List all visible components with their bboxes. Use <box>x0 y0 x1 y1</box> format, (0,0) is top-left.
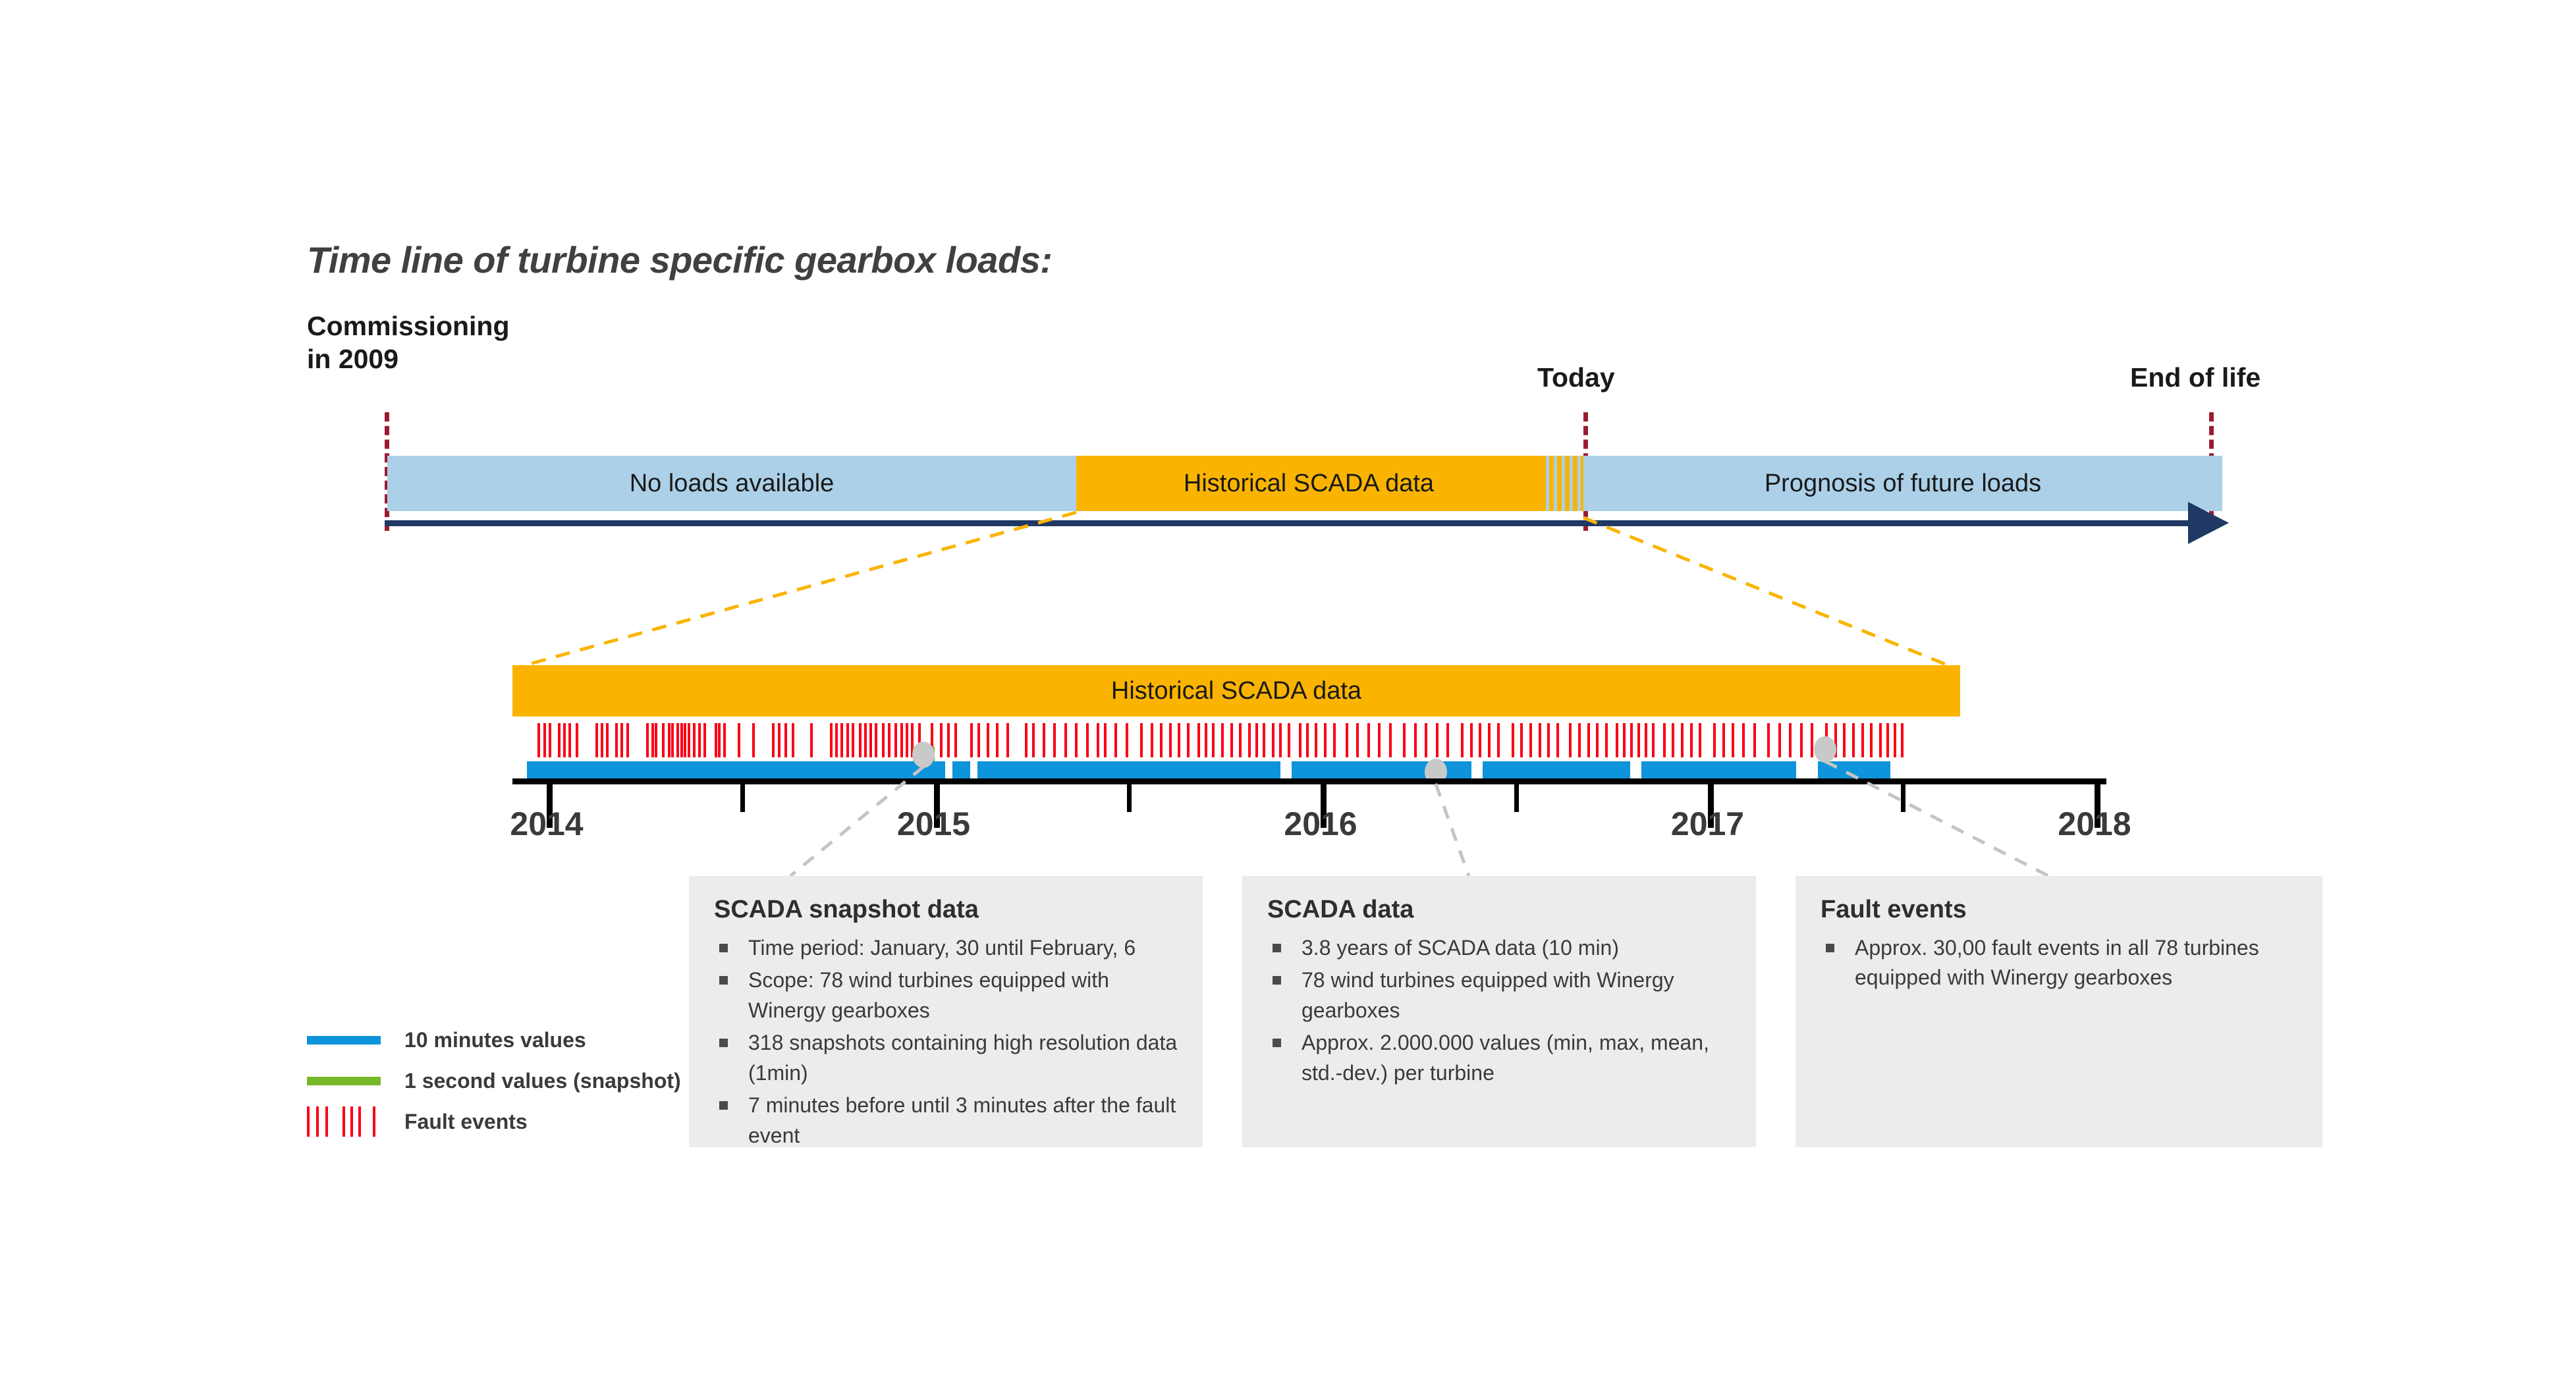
fault-event-tick <box>996 723 999 757</box>
legend-item-one-second: 1 second values (snapshot) <box>307 1060 681 1101</box>
fault-event-tick <box>543 723 546 757</box>
fault-event-tick <box>906 723 908 757</box>
fault-event-tick <box>1672 723 1674 757</box>
fault-event-tick <box>693 723 696 757</box>
fault-event-tick <box>1616 723 1618 757</box>
fault-event-tick <box>1652 723 1655 757</box>
fault-event-tick <box>1789 723 1792 757</box>
detail-axis-rule <box>512 778 2106 784</box>
page-title: Time line of turbine specific gearbox lo… <box>307 238 1052 281</box>
main-axis-arrow-icon <box>2188 502 2229 544</box>
legend-tick-mark <box>343 1106 345 1137</box>
ten-minute-value-bar <box>1641 761 1796 778</box>
axis-minor-tick <box>1514 784 1519 812</box>
info-box-bullet-list: Approx. 30,00 fault events in all 78 tur… <box>1821 933 2300 993</box>
fault-event-tick <box>1596 723 1599 757</box>
fault-event-tick <box>1197 723 1200 757</box>
timeline-segment-historical-scada: Historical SCADA data <box>1076 456 1541 511</box>
info-bullet: Approx. 30,00 fault events in all 78 tur… <box>1821 933 2300 993</box>
fault-event-tick <box>1778 723 1781 757</box>
fault-event-tick <box>987 723 989 757</box>
fault-event-tick <box>601 723 603 757</box>
fault-event-tick <box>1461 723 1464 757</box>
fault-event-tick <box>1470 723 1473 757</box>
fault-event-tick <box>954 723 957 757</box>
fault-event-tick <box>1623 723 1626 757</box>
fault-event-tick <box>703 723 706 757</box>
fault-event-tick <box>752 723 755 757</box>
info-box-scada-data: SCADA data 3.8 years of SCADA data (10 m… <box>1242 876 1756 1147</box>
fault-event-tick <box>1699 723 1701 757</box>
legend-label: Fault events <box>404 1110 528 1134</box>
fault-event-tick <box>900 723 903 757</box>
fault-event-tick <box>1630 723 1633 757</box>
fault-event-tick <box>738 723 740 757</box>
axis-year-label: 2017 <box>1671 805 1744 843</box>
fault-event-tick <box>668 723 671 757</box>
fault-event-tick <box>1811 723 1813 757</box>
fault-event-tick <box>792 723 794 757</box>
fault-event-tick <box>558 723 561 757</box>
info-bullet: 3.8 years of SCADA data (10 min) <box>1267 933 1734 963</box>
fault-event-tick <box>1272 723 1274 757</box>
fault-event-tick <box>1126 723 1128 757</box>
fault-event-tick <box>864 723 867 757</box>
fault-event-tick <box>1587 723 1590 757</box>
fault-event-tick <box>1389 723 1392 757</box>
callout-leader-line-scada <box>1436 784 1469 876</box>
fault-event-tick <box>1645 723 1647 757</box>
fault-event-tick <box>1378 723 1381 757</box>
fault-event-tick <box>1605 723 1608 757</box>
chart-legend: 10 minutes values 1 second values (snaps… <box>307 1019 681 1142</box>
fault-event-tick <box>1488 723 1491 757</box>
fault-event-tick <box>1097 723 1099 757</box>
fault-event-tick <box>830 723 833 757</box>
fault-event-tick <box>1446 723 1449 757</box>
legend-tick-mark <box>373 1106 375 1137</box>
axis-year-label: 2015 <box>897 805 970 843</box>
fault-event-tick <box>1901 723 1904 757</box>
fault-event-tick <box>784 723 787 757</box>
timeline-segment-prognosis: Prognosis of future loads <box>1583 456 2222 511</box>
legend-item-ten-minutes: 10 minutes values <box>307 1019 681 1060</box>
fault-event-tick <box>651 723 654 757</box>
axis-minor-tick <box>1127 784 1132 812</box>
fault-event-tick <box>888 723 891 757</box>
fault-event-tick <box>846 723 849 757</box>
fault-event-tick <box>1547 723 1550 757</box>
fault-event-tick <box>947 723 950 757</box>
fault-event-tick <box>671 723 674 757</box>
fault-event-tick <box>723 723 726 757</box>
fault-event-tick <box>835 723 838 757</box>
fault-event-tick <box>1403 723 1406 757</box>
fault-event-tick <box>1852 723 1855 757</box>
ten-minute-value-bar <box>1818 761 1890 778</box>
fault-event-tick <box>1075 723 1078 757</box>
legend-label: 10 minutes values <box>404 1028 586 1052</box>
fault-event-tick <box>576 723 578 757</box>
fault-event-tick <box>1279 723 1282 757</box>
info-box-scada-snapshot-data: SCADA snapshot data Time period: January… <box>689 876 1203 1147</box>
legend-tick-mark <box>316 1106 319 1137</box>
axis-year-label: 2018 <box>2058 805 2131 843</box>
fault-event-tick <box>715 723 717 757</box>
fault-event-tick <box>1255 723 1258 757</box>
fault-event-tick <box>537 723 540 757</box>
fault-event-tick <box>1529 723 1532 757</box>
fault-event-tick <box>655 723 657 757</box>
fault-event-tick <box>676 723 679 757</box>
fault-event-tick <box>1140 723 1143 757</box>
fault-event-tick <box>646 723 649 757</box>
axis-minor-tick <box>1901 784 1905 812</box>
fault-event-tick <box>1306 723 1309 757</box>
fault-event-tick <box>1800 723 1803 757</box>
fault-event-tick <box>1064 723 1067 757</box>
fault-event-tick <box>698 723 701 757</box>
fault-event-tick <box>1221 723 1224 757</box>
fault-event-tick <box>1288 723 1290 757</box>
fault-event-tick <box>1742 723 1745 757</box>
fault-event-tick <box>1843 723 1846 757</box>
fault-event-tick <box>1578 723 1581 757</box>
fault-event-tick <box>977 723 980 757</box>
fault-event-tick <box>1861 723 1864 757</box>
fault-event-tick <box>1025 723 1028 757</box>
legend-tick-mark <box>358 1106 361 1137</box>
fault-event-tick <box>1212 723 1215 757</box>
fault-event-tick <box>626 723 629 757</box>
info-bullet: 7 minutes before until 3 minutes after t… <box>714 1091 1180 1151</box>
fault-event-tick <box>1324 723 1327 757</box>
fault-event-tick <box>1299 723 1302 757</box>
fault-event-tick <box>1681 723 1684 757</box>
fault-event-tick <box>1713 723 1716 757</box>
fault-event-tick <box>1436 723 1439 757</box>
fault-event-tick <box>1722 723 1725 757</box>
axis-minor-tick <box>740 784 745 812</box>
fault-event-tick <box>1169 723 1172 757</box>
legend-tick-mark <box>350 1106 353 1137</box>
fault-event-tick <box>1239 723 1242 757</box>
legend-swatch-line-icon <box>307 1077 381 1085</box>
info-bullet: Approx. 2.000.000 values (min, max, mean… <box>1267 1028 1734 1088</box>
fault-event-tick <box>1663 723 1666 757</box>
detail-historical-scada-bar: Historical SCADA data <box>512 665 1960 717</box>
legend-tick-mark <box>307 1106 310 1137</box>
fault-event-tick <box>1637 723 1640 757</box>
fault-event-tick <box>1248 723 1251 757</box>
fault-event-tick <box>859 723 862 757</box>
fault-event-tick <box>1114 723 1117 757</box>
fault-event-tick <box>680 723 683 757</box>
fault-event-tick <box>1894 723 1896 757</box>
fault-event-tick <box>1732 723 1734 757</box>
fault-event-ticks <box>527 723 1969 757</box>
fault-event-tick <box>840 723 843 757</box>
fault-event-tick <box>615 723 618 757</box>
fault-event-tick <box>970 723 973 757</box>
fault-event-tick <box>1333 723 1336 757</box>
ten-minute-value-bar <box>527 761 945 778</box>
main-axis-line <box>385 520 2222 526</box>
info-box-bullet-list: Time period: January, 30 until February,… <box>714 933 1180 1151</box>
fault-event-tick <box>595 723 598 757</box>
callout-anchor-faults <box>1814 736 1836 763</box>
ten-minute-value-bars <box>527 761 1969 778</box>
fault-event-tick <box>1767 723 1770 757</box>
fault-event-tick <box>1753 723 1756 757</box>
fault-event-tick <box>1479 723 1481 757</box>
info-box-bullet-list: 3.8 years of SCADA data (10 min) 78 wind… <box>1267 933 1734 1088</box>
marker-label-today: Today <box>1537 361 1615 394</box>
info-bullet: 318 snapshots containing high resolution… <box>714 1028 1180 1088</box>
fault-event-tick <box>1151 723 1153 757</box>
info-bullet: 78 wind turbines equipped with Winergy g… <box>1267 965 1734 1025</box>
fault-event-tick <box>1160 723 1163 757</box>
fault-event-tick <box>1104 723 1107 757</box>
fault-event-tick <box>1425 723 1427 757</box>
fault-event-tick <box>1006 723 1009 757</box>
ten-minute-value-bar <box>1483 761 1630 778</box>
fault-event-tick <box>1569 723 1572 757</box>
fault-event-tick <box>568 723 571 757</box>
info-bullet: Time period: January, 30 until February,… <box>714 933 1180 963</box>
fault-event-tick <box>940 723 943 757</box>
legend-label: 1 second values (snapshot) <box>404 1069 681 1093</box>
fault-event-tick <box>1539 723 1541 757</box>
fault-event-tick <box>1870 723 1873 757</box>
axis-year-label: 2014 <box>510 805 583 843</box>
legend-swatch-ticks-icon <box>307 1106 381 1137</box>
fault-event-tick <box>688 723 690 757</box>
fault-event-tick <box>1230 723 1233 757</box>
ten-minute-value-bar <box>977 761 1280 778</box>
marker-label-commissioning: Commissioningin 2009 <box>307 310 510 375</box>
timeline-segment-no-loads: No loads available <box>387 456 1076 511</box>
fault-event-tick <box>1315 723 1317 757</box>
fault-event-tick <box>1886 723 1889 757</box>
fault-event-tick <box>778 723 781 757</box>
fault-event-tick <box>718 723 721 757</box>
fault-event-tick <box>606 723 609 757</box>
fault-event-tick <box>772 723 775 757</box>
ten-minute-value-bar <box>952 761 970 778</box>
info-box-title: SCADA snapshot data <box>714 896 1180 924</box>
fault-event-tick <box>684 723 686 757</box>
fault-event-tick <box>1556 723 1559 757</box>
fault-event-tick <box>852 723 854 757</box>
fault-event-tick <box>1053 723 1056 757</box>
fault-event-tick <box>620 723 623 757</box>
fault-event-tick <box>1690 723 1693 757</box>
info-box-title: Fault events <box>1821 896 2300 924</box>
fault-event-tick <box>894 723 897 757</box>
fault-event-tick <box>549 723 551 757</box>
info-box-title: SCADA data <box>1267 896 1734 924</box>
fault-event-tick <box>1187 723 1190 757</box>
legend-swatch-line-icon <box>307 1036 381 1045</box>
fault-event-tick <box>869 723 872 757</box>
legend-item-fault-events: Fault events <box>307 1101 681 1142</box>
fault-event-tick <box>1043 723 1045 757</box>
fault-event-tick <box>1414 723 1417 757</box>
axis-year-label: 2016 <box>1284 805 1357 843</box>
fault-event-tick <box>875 723 877 757</box>
fault-event-tick <box>1346 723 1348 757</box>
marker-label-end-of-life: End of life <box>2130 361 2261 394</box>
fault-event-tick <box>1356 723 1359 757</box>
fault-event-tick <box>563 723 566 757</box>
fault-event-tick <box>882 723 885 757</box>
fault-event-tick <box>1879 723 1882 757</box>
fault-event-tick <box>1367 723 1370 757</box>
info-box-fault-events: Fault events Approx. 30,00 fault events … <box>1795 876 2322 1147</box>
fault-event-tick <box>1497 723 1500 757</box>
fault-event-tick <box>1520 723 1523 757</box>
fault-event-tick <box>1263 723 1265 757</box>
timeline-segment-fade-stripes <box>1541 456 1583 511</box>
info-bullet: Scope: 78 wind turbines equipped with Wi… <box>714 965 1180 1025</box>
fault-event-tick <box>1032 723 1035 757</box>
fault-event-tick <box>810 723 813 757</box>
fault-event-tick <box>662 723 665 757</box>
fault-event-tick <box>1205 723 1207 757</box>
legend-tick-mark <box>325 1106 328 1137</box>
fault-event-tick <box>1178 723 1180 757</box>
fault-event-tick <box>1086 723 1089 757</box>
fault-event-tick <box>1512 723 1514 757</box>
